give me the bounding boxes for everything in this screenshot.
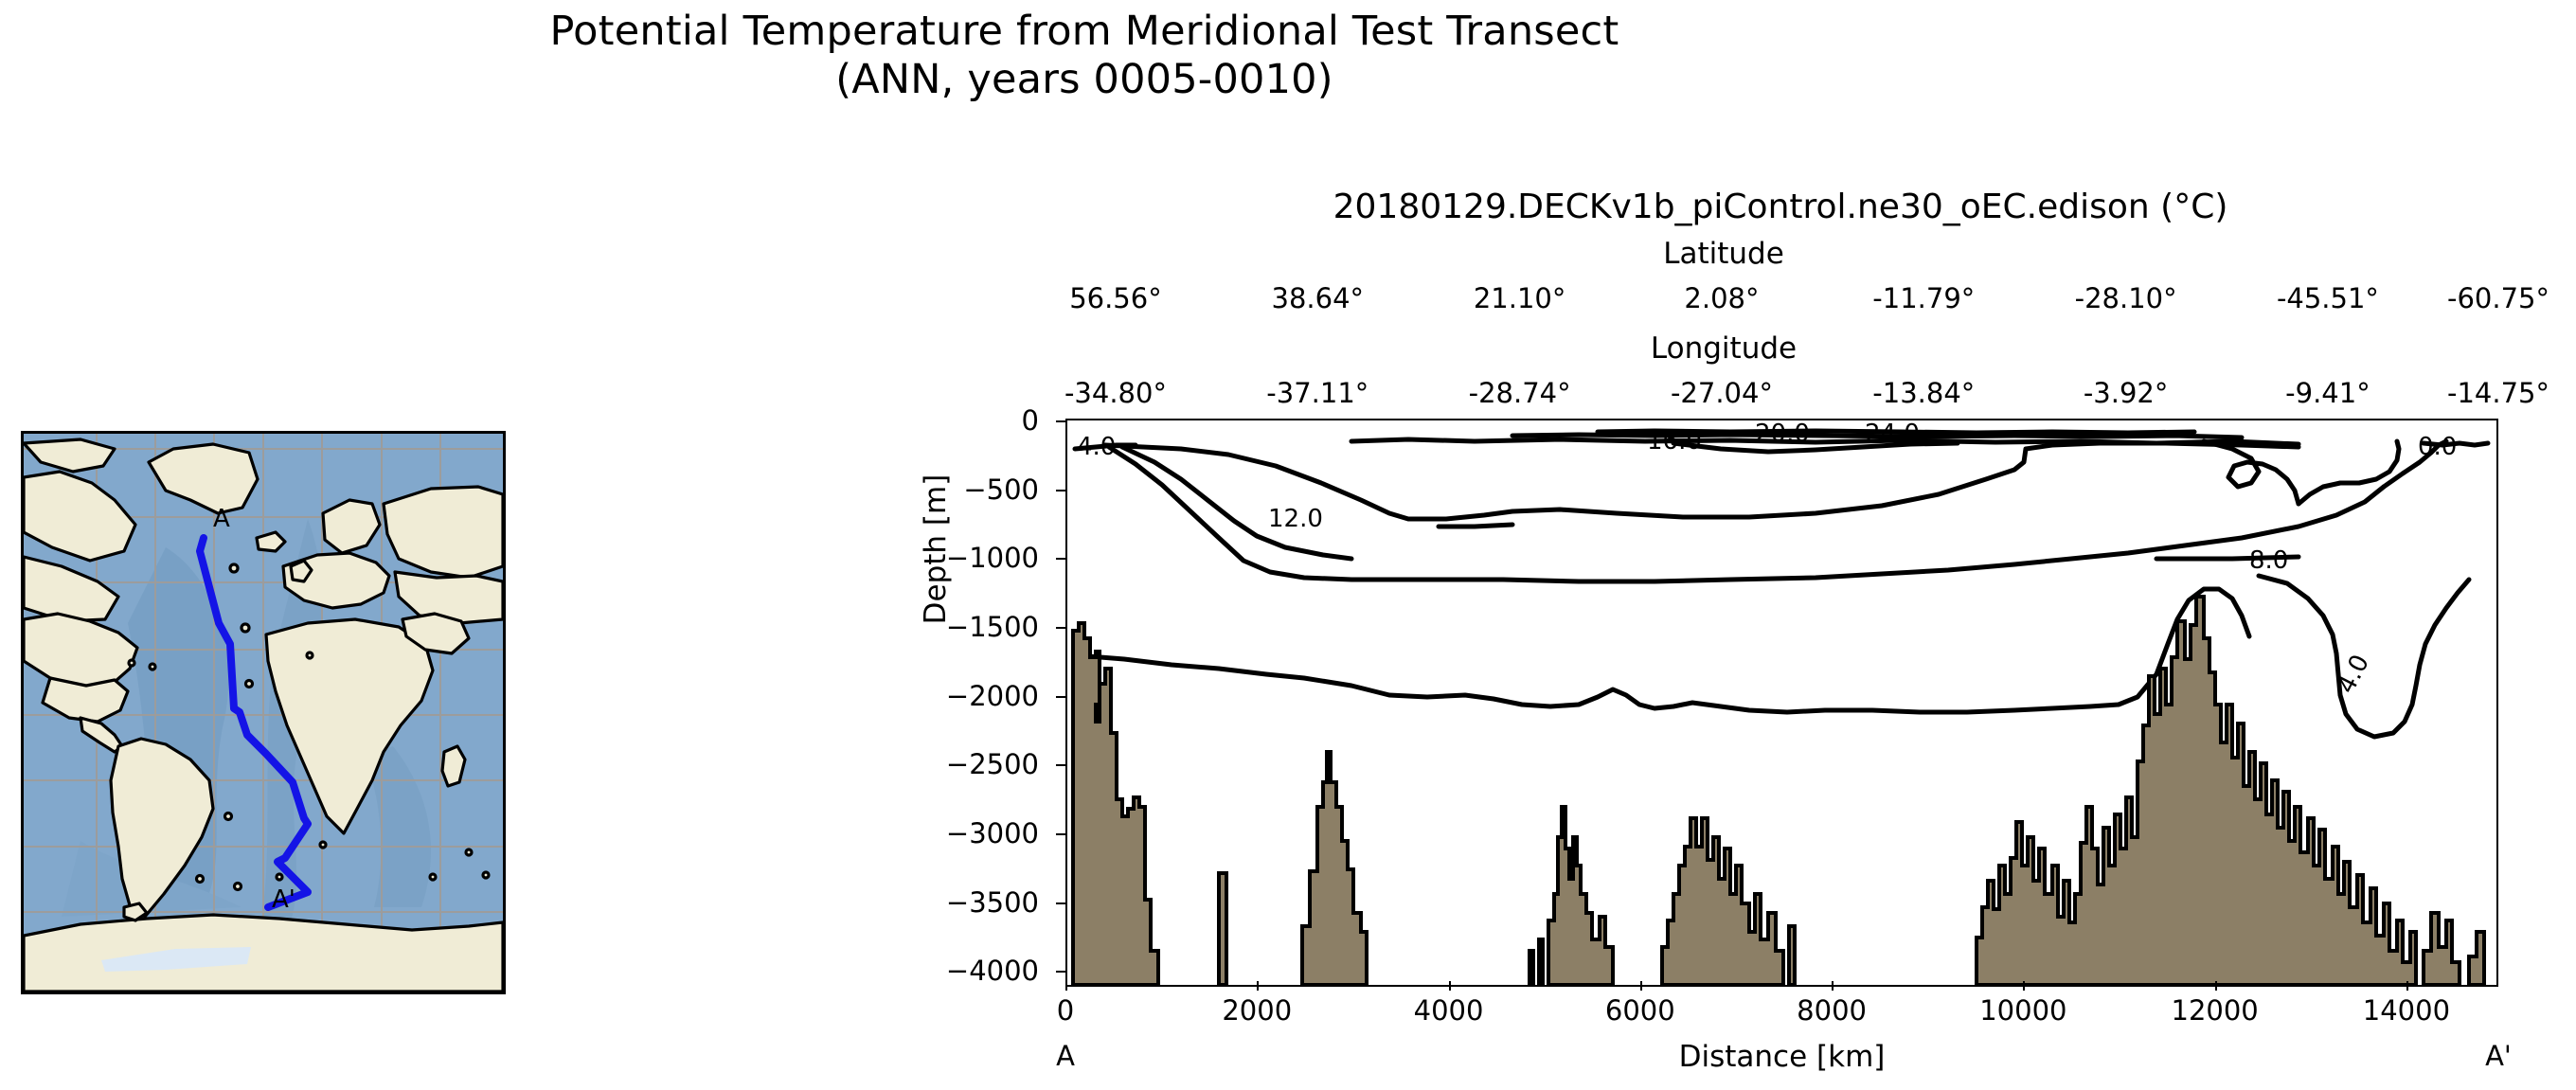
contour-svg: 4.0 12.0 16.0 20.0 24.0 8.0 4.0 0.0 bbox=[1067, 420, 2496, 985]
longitude-tick-3: -27.04° bbox=[1671, 377, 1773, 409]
depth-tick-3: −1500 bbox=[946, 611, 1039, 643]
figure-title-line-1: Potential Temperature from Meridional Te… bbox=[550, 8, 1619, 55]
transect-map-inset: A A' bbox=[21, 431, 506, 994]
longitude-tick-1: -37.11° bbox=[1266, 377, 1368, 409]
latitude-tick-6: -45.51° bbox=[2277, 282, 2379, 314]
distance-tickmark-3 bbox=[1640, 981, 1642, 991]
distance-tick-1: 2000 bbox=[1222, 994, 1292, 1027]
longitude-tick-4: -13.84° bbox=[1872, 377, 1975, 409]
transect-endpoint-a: A bbox=[1056, 1040, 1075, 1072]
contour-label-16: 16.0 bbox=[1647, 427, 1702, 456]
longitude-axis-title: Longitude bbox=[881, 331, 2567, 366]
depth-tick-6: −3000 bbox=[946, 817, 1039, 849]
latitude-tick-1: 38.64° bbox=[1272, 282, 1365, 314]
distance-tickmark-2 bbox=[1449, 981, 1451, 991]
distance-tick-0: 0 bbox=[1057, 994, 1074, 1027]
figure-title: Potential Temperature from Meridional Te… bbox=[0, 8, 2169, 103]
x-axis-title: Distance [km] bbox=[1065, 1040, 2498, 1074]
distance-tickmark-5 bbox=[2023, 981, 2025, 991]
depth-tick-8: −4000 bbox=[946, 955, 1039, 987]
distance-tick-3: 6000 bbox=[1605, 994, 1675, 1027]
map-end-label: A' bbox=[272, 885, 295, 914]
contour-label-20: 20.0 bbox=[1755, 420, 1810, 448]
depth-tick-7: −3500 bbox=[946, 886, 1039, 919]
latitude-tick-3: 2.08° bbox=[1684, 282, 1759, 314]
y-axis-title: Depth [m] bbox=[919, 407, 953, 691]
transect-plot-panel: Latitude 56.56°38.64°21.10°2.08°-11.79°-… bbox=[881, 237, 2567, 1089]
contour-label-8: 8.0 bbox=[2249, 546, 2288, 575]
depth-tick-4: −2000 bbox=[946, 680, 1039, 712]
longitude-tick-2: -28.74° bbox=[1469, 377, 1571, 409]
latitude-tick-5: -28.10° bbox=[2075, 282, 2177, 314]
contour-label-4-left: 4.0 bbox=[1077, 433, 1116, 461]
panel-title: 20180129.DECKv1b_piControl.ne30_oEC.edis… bbox=[1051, 188, 2510, 226]
distance-tick-7: 14000 bbox=[2363, 994, 2450, 1027]
distance-tick-labels: 02000400060008000100001200014000 bbox=[1065, 991, 2498, 1028]
latitude-tick-0: 56.56° bbox=[1069, 282, 1162, 314]
contour-label-24: 24.0 bbox=[1865, 420, 1920, 448]
longitude-tick-5: -3.92° bbox=[2084, 377, 2169, 409]
distance-tickmark-0 bbox=[1065, 981, 1067, 991]
distance-tick-2: 4000 bbox=[1414, 994, 1484, 1027]
distance-tick-5: 10000 bbox=[1979, 994, 2066, 1027]
latitude-tick-labels: 56.56°38.64°21.10°2.08°-11.79°-28.10°-45… bbox=[881, 282, 2567, 314]
distance-tickmark-4 bbox=[1832, 981, 1834, 991]
depth-tick-1: −500 bbox=[963, 474, 1039, 506]
isotherm-contours bbox=[1075, 431, 2488, 737]
depth-tick-0: 0 bbox=[1022, 404, 1039, 437]
distance-tickmark-1 bbox=[1257, 981, 1259, 991]
transect-endpoint-aprime: A' bbox=[2485, 1040, 2512, 1072]
distance-tick-6: 12000 bbox=[2171, 994, 2258, 1027]
world-map-svg: A A' bbox=[24, 434, 503, 992]
longitude-tick-labels: -34.80°-37.11°-28.74°-27.04°-13.84°-3.92… bbox=[881, 377, 2567, 409]
depth-tick-5: −2500 bbox=[946, 748, 1039, 780]
map-start-label: A bbox=[213, 505, 230, 533]
longitude-tick-6: -9.41° bbox=[2285, 377, 2370, 409]
latitude-axis-title: Latitude bbox=[881, 237, 2567, 271]
contour-label-0: 0.0 bbox=[2418, 433, 2457, 461]
contour-axes: 4.0 12.0 16.0 20.0 24.0 8.0 4.0 0.0 bbox=[1065, 419, 2498, 987]
depth-tick-labels: 0−500−1000−1500−2000−2500−3000−3500−4000 bbox=[881, 419, 1056, 987]
latitude-tick-4: -11.79° bbox=[1872, 282, 1975, 314]
distance-tickmark-7 bbox=[2406, 981, 2408, 991]
bathymetry-profile bbox=[1073, 597, 2484, 985]
latitude-tick-2: 21.10° bbox=[1474, 282, 1566, 314]
figure-title-line-2: (ANN, years 0005-0010) bbox=[0, 56, 2169, 104]
longitude-tick-0: -34.80° bbox=[1064, 377, 1167, 409]
latitude-tick-7: -60.75° bbox=[2447, 282, 2549, 314]
distance-tick-4: 8000 bbox=[1797, 994, 1867, 1027]
depth-tick-2: −1000 bbox=[946, 542, 1039, 574]
distance-tickmark-6 bbox=[2215, 981, 2217, 991]
contour-label-12: 12.0 bbox=[1268, 505, 1323, 533]
longitude-tick-7: -14.75° bbox=[2447, 377, 2549, 409]
